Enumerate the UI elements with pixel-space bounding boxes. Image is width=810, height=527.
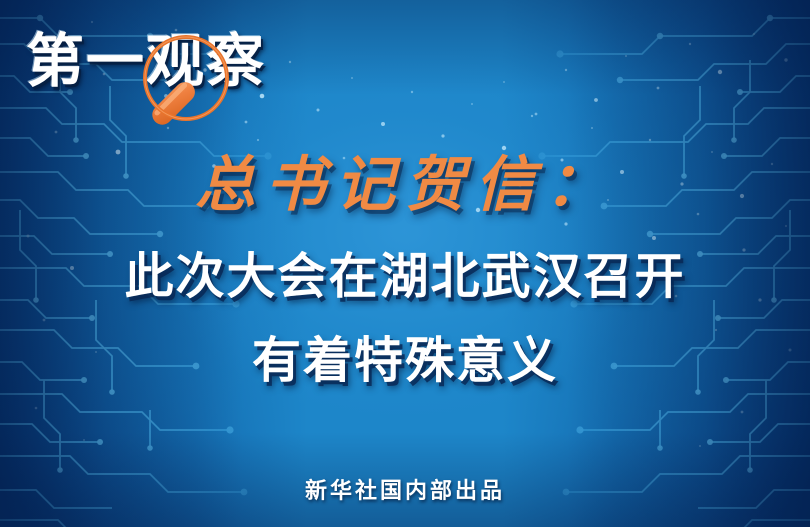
main-message-line-1: 此次大会在湖北武汉召开: [0, 252, 810, 301]
magnifier-icon: [26, 26, 296, 132]
main-message-line-2: 有着特殊意义: [0, 336, 810, 385]
footer-attribution: 新华社国内部出品: [305, 479, 505, 504]
brand-logo[interactable]: 第一观察: [26, 26, 296, 132]
main-message-block: 此次大会在湖北武汉召开 有着特殊意义: [0, 252, 810, 385]
footer-block: 新华社国内部出品: [0, 473, 810, 505]
poster-canvas: 第一观察 总书: [0, 0, 810, 527]
headline-block: 总书记贺信：: [0, 152, 810, 218]
headline-text: 总书记贺信：: [195, 152, 615, 218]
